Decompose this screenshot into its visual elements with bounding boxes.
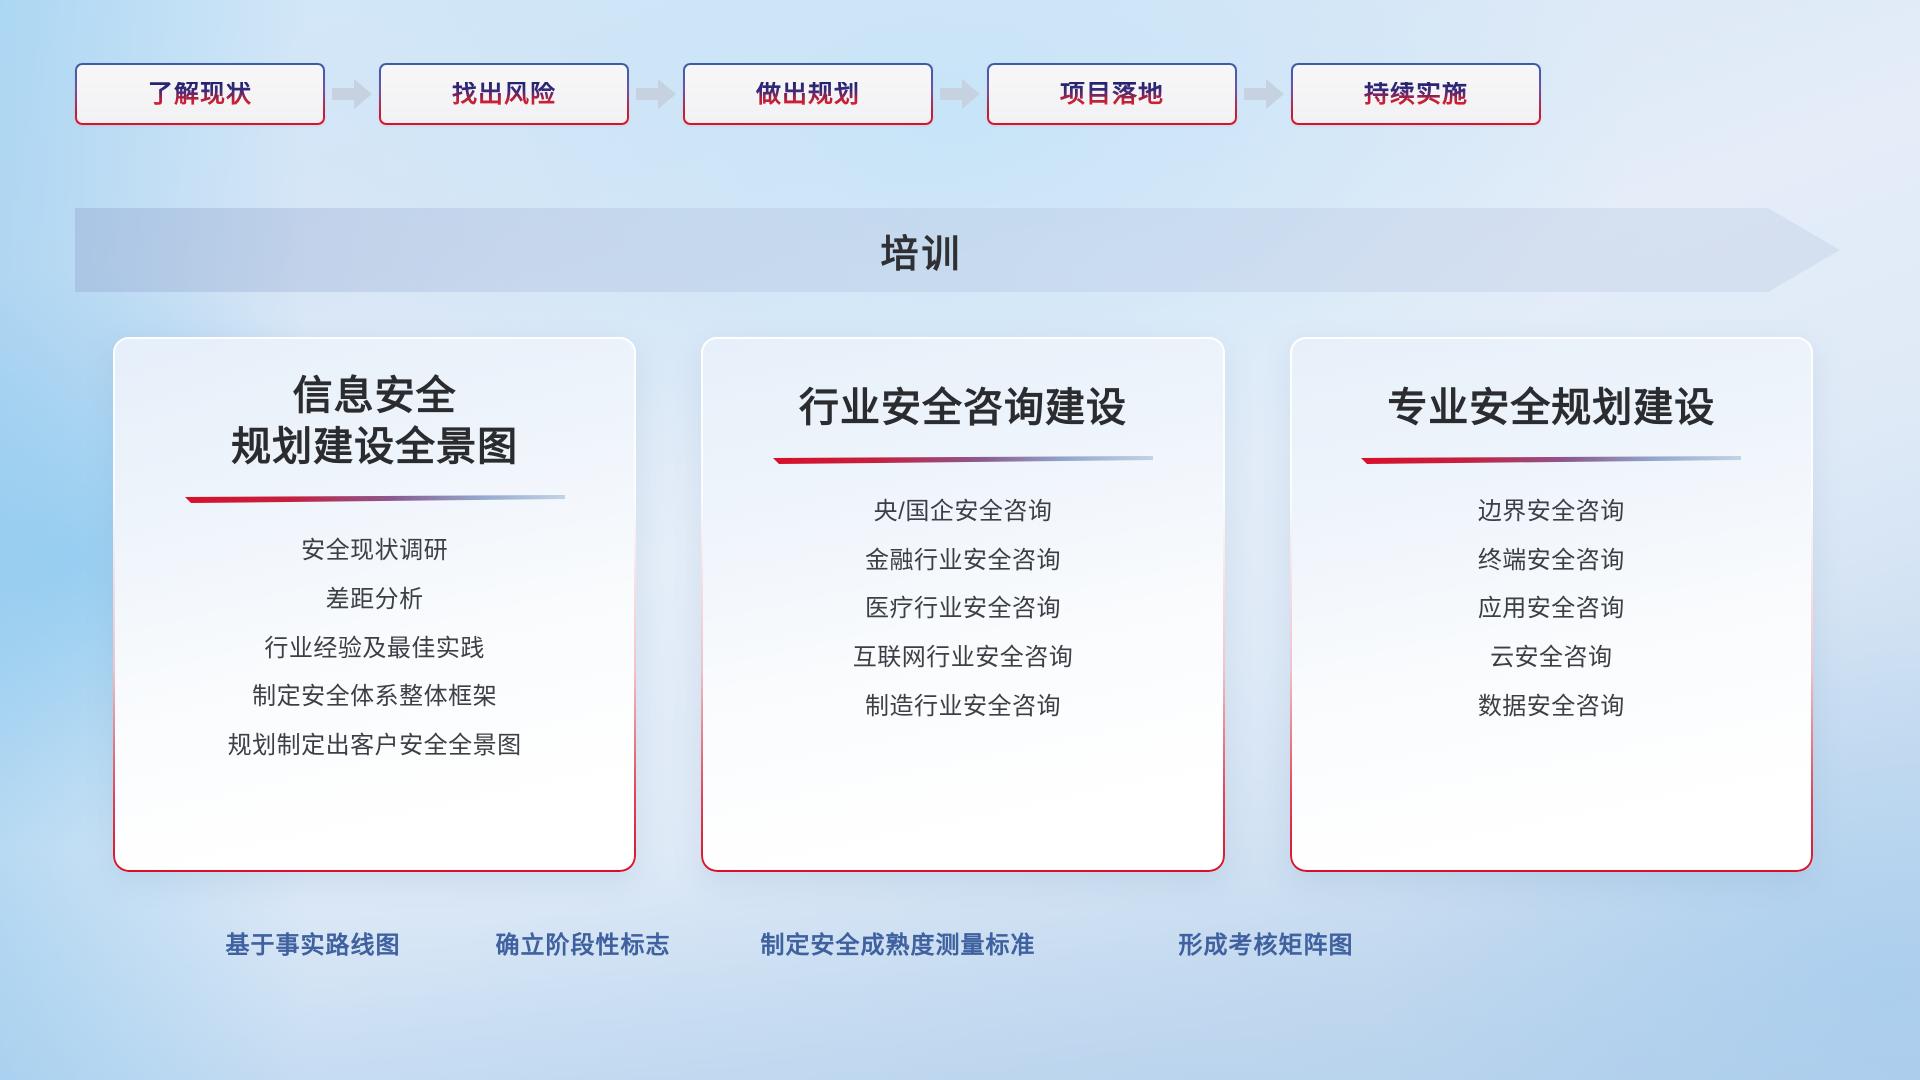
card-title: 专业安全规划建设 xyxy=(1387,337,1715,434)
card-item-list: 安全现状调研 差距分析 行业经验及最佳实践 制定安全体系整体框架 规划制定出客户… xyxy=(137,505,612,765)
card-title-line: 信息安全 xyxy=(231,371,518,422)
card-title: 信息安全 规划建设全景图 xyxy=(231,337,518,473)
list-item: 央/国企安全咨询 xyxy=(874,492,1053,532)
list-item: 金融行业安全咨询 xyxy=(865,541,1061,581)
step-box-2[interactable]: 找出风险 xyxy=(379,63,629,125)
list-item: 差距分析 xyxy=(326,580,424,620)
step-label: 找出风险 xyxy=(452,82,556,107)
list-item: 数据安全咨询 xyxy=(1478,687,1625,727)
list-item: 制定安全体系整体框架 xyxy=(252,677,497,717)
card-item-list: 边界安全咨询 终端安全咨询 应用安全咨询 云安全咨询 数据安全咨询 xyxy=(1314,466,1789,726)
card-title-line: 专业安全规划建设 xyxy=(1387,383,1715,434)
list-item: 安全现状调研 xyxy=(301,531,448,571)
step-label: 持续实施 xyxy=(1364,82,1468,107)
card-information-security-panorama[interactable]: 信息安全 规划建设全景图 xyxy=(113,337,636,872)
card-industry-security-consulting[interactable]: 行业安全咨询建设 xyxy=(701,337,1224,872)
list-item: 应用安全咨询 xyxy=(1478,589,1625,629)
step-label: 项目落地 xyxy=(1060,82,1164,107)
list-item: 制造行业安全咨询 xyxy=(865,687,1061,727)
list-item: 云安全咨询 xyxy=(1490,638,1613,678)
arrow-right-icon xyxy=(1237,74,1291,114)
caption-row: 基于事实路线图 确立阶段性标志 制定安全成熟度测量标准 形成考核矩阵图 xyxy=(113,925,1813,965)
process-steps: 了解现状 找出风险 做出规划 项目落地 xyxy=(75,63,1845,125)
accent-divider xyxy=(1361,456,1741,466)
divider-wrapper xyxy=(137,495,612,505)
arrow-right-icon xyxy=(325,74,379,114)
divider-wrapper xyxy=(725,456,1200,466)
arrow-right-icon xyxy=(933,74,987,114)
step-box-4[interactable]: 项目落地 xyxy=(987,63,1237,125)
banner-title: 培训 xyxy=(75,208,1768,292)
card-row: 信息安全 规划建设全景图 xyxy=(113,337,1813,872)
caption-1: 基于事实路线图 xyxy=(226,925,401,960)
caption-4: 形成考核矩阵图 xyxy=(1179,925,1354,960)
list-item: 互联网行业安全咨询 xyxy=(853,638,1074,678)
card-title-line: 行业安全咨询建设 xyxy=(799,383,1127,434)
card-item-list: 央/国企安全咨询 金融行业安全咨询 医疗行业安全咨询 互联网行业安全咨询 制造行… xyxy=(725,466,1200,726)
step-box-1[interactable]: 了解现状 xyxy=(75,63,325,125)
slide-canvas: 了解现状 找出风险 做出规划 项目落地 xyxy=(0,0,1920,1080)
arrow-right-icon xyxy=(629,74,683,114)
list-item: 规划制定出客户安全全景图 xyxy=(228,726,522,766)
list-item: 医疗行业安全咨询 xyxy=(865,589,1061,629)
divider-wrapper xyxy=(1314,456,1789,466)
caption-3: 制定安全成熟度测量标准 xyxy=(761,925,1036,960)
step-box-5[interactable]: 持续实施 xyxy=(1291,63,1541,125)
card-professional-security-planning[interactable]: 专业安全规划建设 xyxy=(1290,337,1813,872)
card-title: 行业安全咨询建设 xyxy=(799,337,1127,434)
step-box-3[interactable]: 做出规划 xyxy=(683,63,933,125)
step-label: 了解现状 xyxy=(148,82,252,107)
caption-2: 确立阶段性标志 xyxy=(496,925,671,960)
step-label: 做出规划 xyxy=(756,82,860,107)
card-title-line: 规划建设全景图 xyxy=(231,422,518,473)
list-item: 行业经验及最佳实践 xyxy=(264,629,485,669)
training-banner: 培训 xyxy=(75,208,1840,292)
list-item: 终端安全咨询 xyxy=(1478,541,1625,581)
accent-divider xyxy=(185,495,565,505)
accent-divider xyxy=(773,456,1153,466)
list-item: 边界安全咨询 xyxy=(1478,492,1625,532)
